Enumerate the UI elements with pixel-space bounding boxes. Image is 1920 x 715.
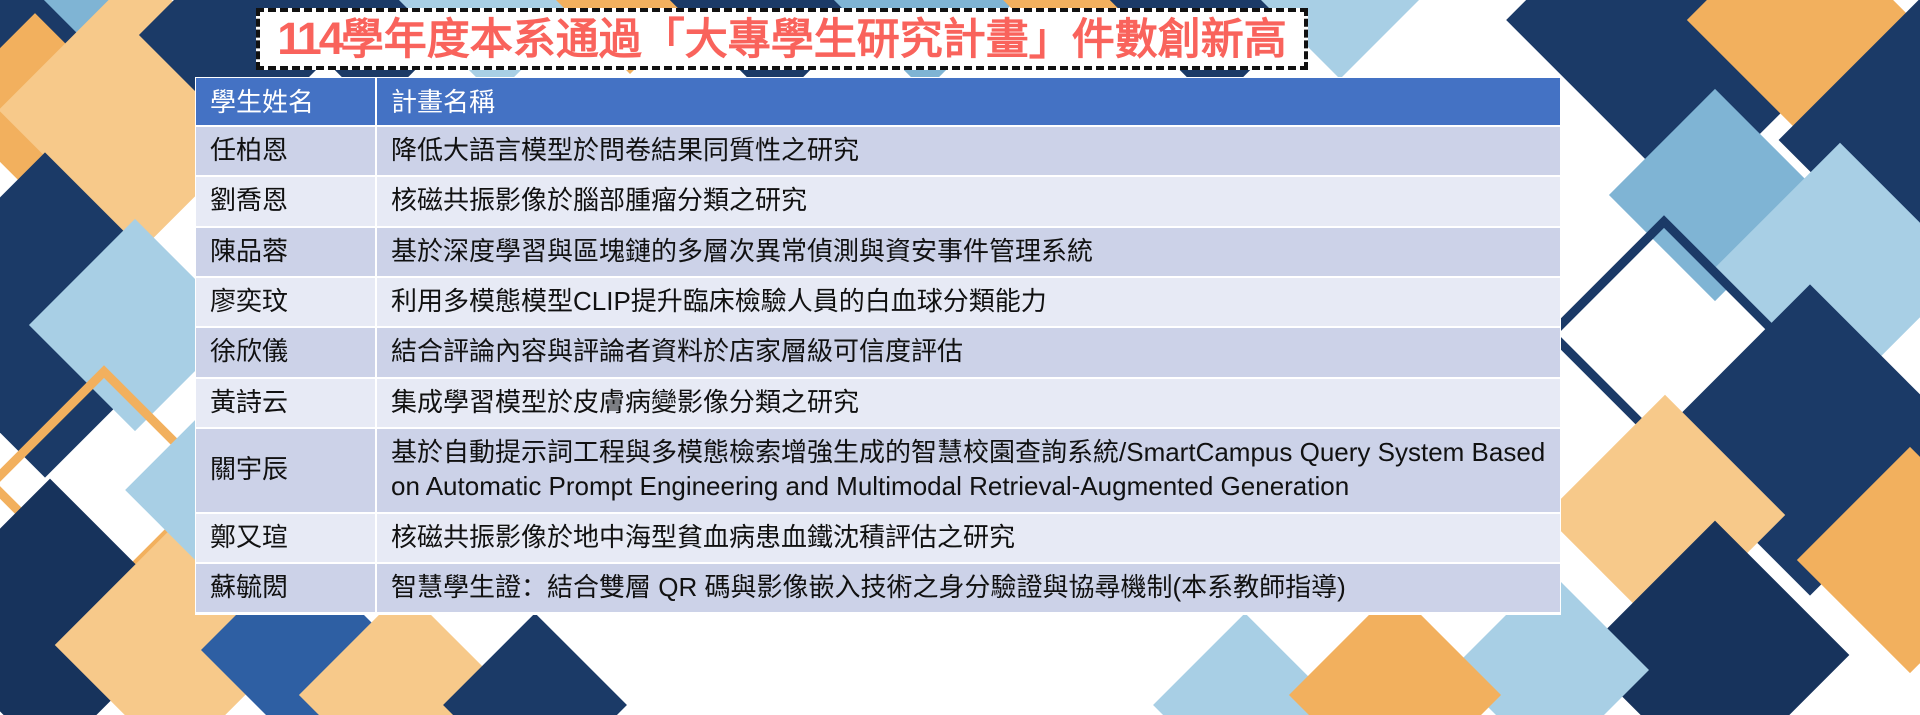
title-number: 114 — [277, 13, 341, 64]
table-row: 任柏恩降低大語言模型於問卷結果同質性之研究 — [196, 126, 1560, 176]
cell-student-name: 任柏恩 — [196, 126, 376, 176]
cell-student-name: 鄭又瑄 — [196, 513, 376, 563]
cell-student-name: 廖奕玟 — [196, 277, 376, 327]
cell-student-name: 關宇辰 — [196, 428, 376, 513]
cell-student-name: 陳品蓉 — [196, 227, 376, 277]
student-project-table: 學生姓名 計畫名稱 任柏恩降低大語言模型於問卷結果同質性之研究劉喬恩核磁共振影像… — [196, 78, 1560, 614]
cell-student-name: 黃詩云 — [196, 378, 376, 428]
cell-student-name: 徐欣儀 — [196, 327, 376, 377]
table-row: 鄭又瑄核磁共振影像於地中海型貧血病患血鐵沈積評估之研究 — [196, 513, 1560, 563]
table-row: 廖奕玟利用多模態模型CLIP提升臨床檢驗人員的白血球分類能力 — [196, 277, 1560, 327]
table-header: 學生姓名 計畫名稱 — [196, 78, 1560, 126]
column-header-student-name: 學生姓名 — [196, 78, 376, 126]
cell-project-name: 智慧學生證：結合雙層 QR 碼與影像嵌入技術之身分驗證與協尋機制(本系教師指導) — [376, 563, 1560, 613]
column-header-project-name: 計畫名稱 — [376, 78, 1560, 126]
table-row: 黃詩云集成學習模型於皮膚病變影像分類之研究 — [196, 378, 1560, 428]
table-body: 任柏恩降低大語言模型於問卷結果同質性之研究劉喬恩核磁共振影像於腦部腫瘤分類之研究… — [196, 126, 1560, 613]
cell-project-name: 基於自動提示詞工程與多模態檢索增強生成的智慧校園查詢系統/SmartCampus… — [376, 428, 1560, 513]
table-row: 徐欣儀結合評論內容與評論者資料於店家層級可信度評估 — [196, 327, 1560, 377]
cell-project-name: 結合評論內容與評論者資料於店家層級可信度評估 — [376, 327, 1560, 377]
cell-project-name: 利用多模態模型CLIP提升臨床檢驗人員的白血球分類能力 — [376, 277, 1560, 327]
cell-project-name: 核磁共振影像於腦部腫瘤分類之研究 — [376, 176, 1560, 226]
cell-student-name: 蘇毓閎 — [196, 563, 376, 613]
cell-project-name: 基於深度學習與區塊鏈的多層次異常偵測與資安事件管理系統 — [376, 227, 1560, 277]
table-row: 關宇辰基於自動提示詞工程與多模態檢索增強生成的智慧校園查詢系統/SmartCam… — [196, 428, 1560, 513]
student-project-table-container: 學生姓名 計畫名稱 任柏恩降低大語言模型於問卷結果同質性之研究劉喬恩核磁共振影像… — [196, 78, 1560, 614]
cell-project-name: 降低大語言模型於問卷結果同質性之研究 — [376, 126, 1560, 176]
cell-project-name: 集成學習模型於皮膚病變影像分類之研究 — [376, 378, 1560, 428]
table-header-row: 學生姓名 計畫名稱 — [196, 78, 1560, 126]
cell-project-name: 核磁共振影像於地中海型貧血病患血鐵沈積評估之研究 — [376, 513, 1560, 563]
title-rest: 學年度本系通過「大專學生研究計畫」件數創新高 — [341, 16, 1287, 64]
page-title: 114學年度本系通過「大專學生研究計畫」件數創新高 — [277, 16, 1287, 62]
table-row: 蘇毓閎智慧學生證：結合雙層 QR 碼與影像嵌入技術之身分驗證與協尋機制(本系教師… — [196, 563, 1560, 613]
cell-student-name: 劉喬恩 — [196, 176, 376, 226]
table-row: 陳品蓉基於深度學習與區塊鏈的多層次異常偵測與資安事件管理系統 — [196, 227, 1560, 277]
table-row: 劉喬恩核磁共振影像於腦部腫瘤分類之研究 — [196, 176, 1560, 226]
title-banner: 114學年度本系通過「大專學生研究計畫」件數創新高 — [256, 8, 1308, 70]
